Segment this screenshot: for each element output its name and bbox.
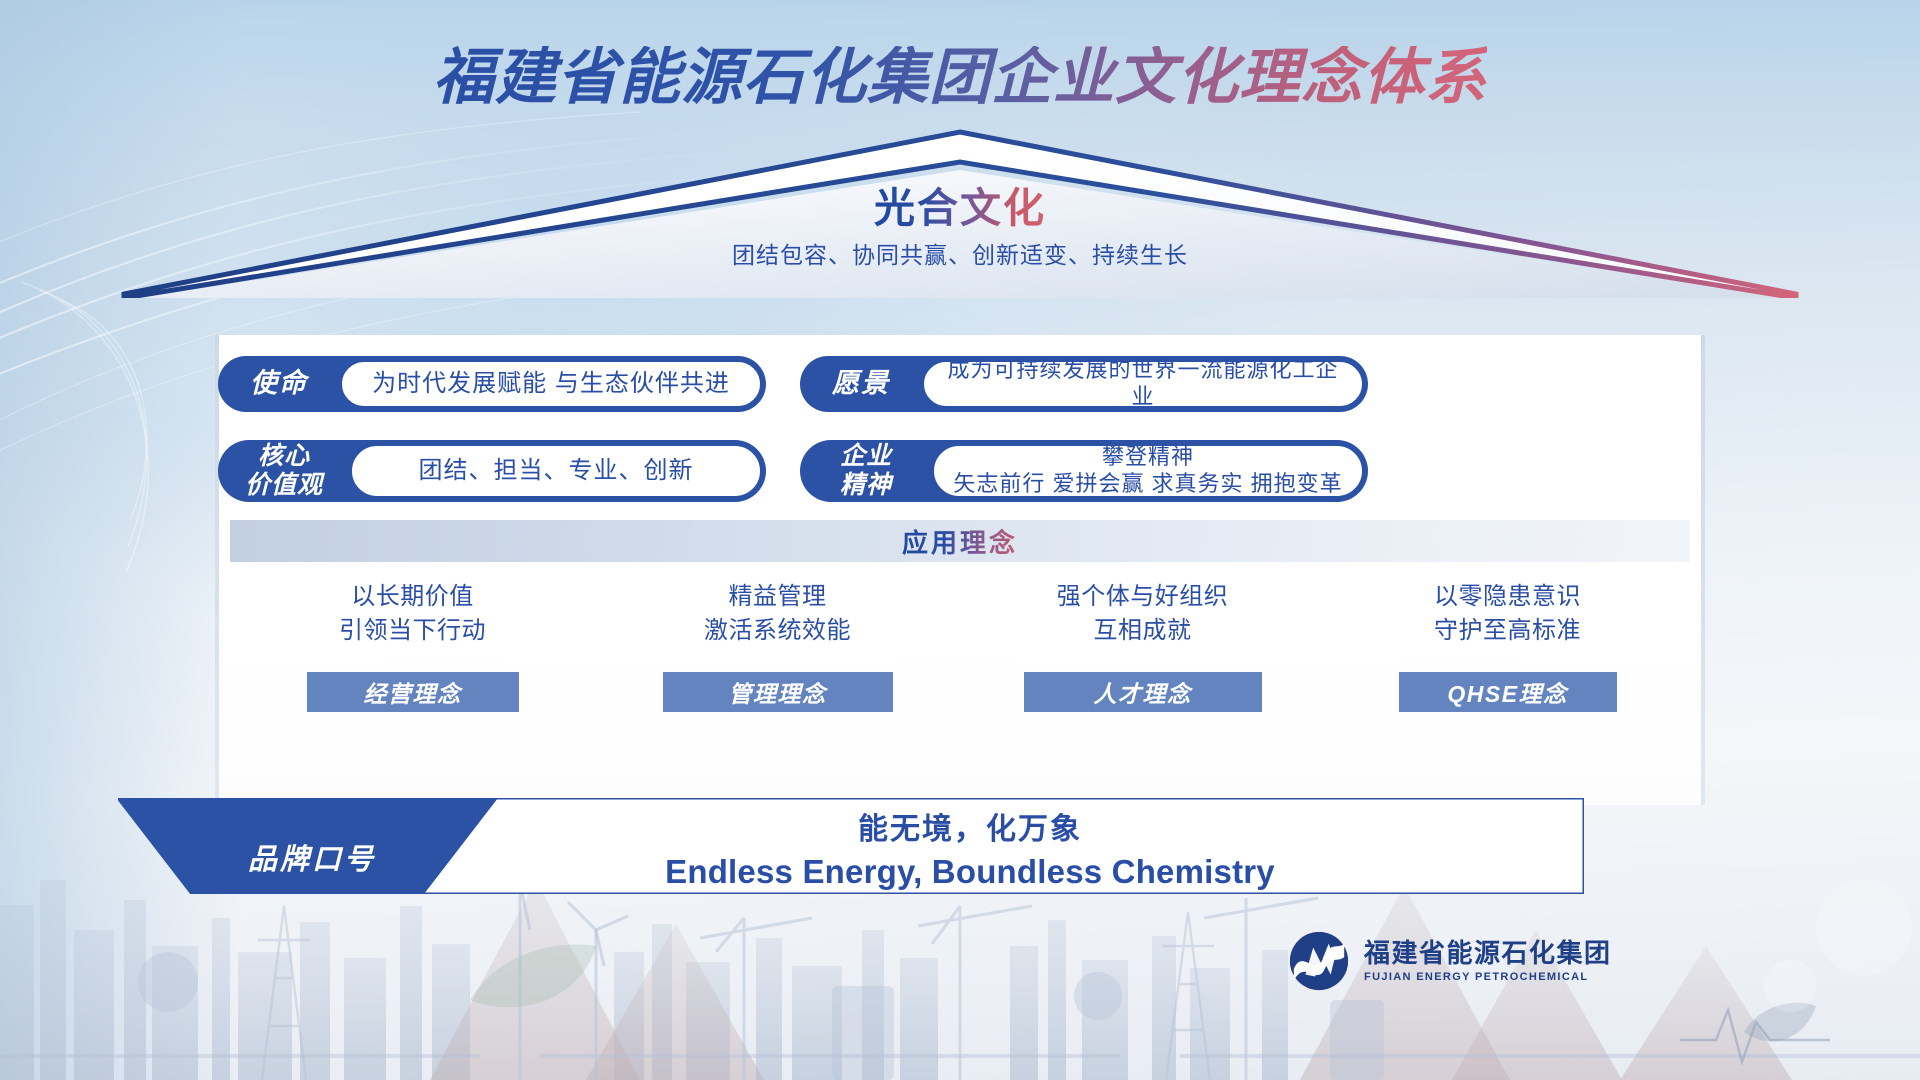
concept-column-management[interactable]: 精益管理 激活系统效能 管理理念 — [595, 580, 960, 760]
application-concept-band: 应用理念 — [230, 520, 1690, 562]
concept-talent-line2: 互相成就 — [1057, 614, 1229, 648]
concept-talent-text: 强个体与好组织 互相成就 — [1057, 580, 1229, 656]
concept-column-qhse[interactable]: 以零隐患意识 守护至高标准 QHSE理念 — [1325, 580, 1690, 760]
logo-mark-icon — [1288, 930, 1350, 992]
pillar-enterprise-spirit-label-line2: 精神 — [826, 471, 906, 501]
pillar-enterprise-spirit[interactable]: 企业 精神 攀登精神 矢志前行 爱拼会赢 求真务实 拥抱变革 — [800, 440, 1368, 502]
pillar-core-values-label-line1: 核心 — [244, 442, 324, 472]
brand-slogan-banner — [118, 798, 1584, 894]
pillar-mission[interactable]: 使命 为时代发展赋能 与生态伙伴共进 — [218, 356, 766, 412]
pillar-mission-label: 使命 — [218, 368, 340, 400]
concept-business-text: 以长期价值 引领当下行动 — [339, 580, 486, 656]
house-right-edge — [1701, 335, 1705, 805]
roof-shape — [120, 126, 1800, 298]
pillar-vision[interactable]: 愿景 成为可持续发展的世界一流能源化工企业 — [800, 356, 1368, 412]
concept-business-badge[interactable]: 经营理念 — [307, 672, 519, 712]
pillar-core-values[interactable]: 核心 价值观 团结、担当、专业、创新 — [218, 440, 766, 502]
pillar-core-values-label-line2: 价值观 — [244, 471, 324, 501]
pillar-core-values-value: 团结、担当、专业、创新 — [350, 444, 762, 498]
pillar-enterprise-spirit-line1: 攀登精神 — [953, 444, 1342, 471]
concept-column-talent[interactable]: 强个体与好组织 互相成就 人才理念 — [960, 580, 1325, 760]
concept-qhse-badge[interactable]: QHSE理念 — [1399, 672, 1617, 712]
pillar-enterprise-spirit-line2: 矢志前行 爱拼会赢 求真务实 拥抱变革 — [953, 471, 1342, 498]
pillar-vision-value: 成为可持续发展的世界一流能源化工企业 — [922, 360, 1364, 408]
culture-system-poster: 福建省能源石化集团企业文化理念体系 光合文化 — [0, 0, 1920, 1080]
page-title: 福建省能源石化集团企业文化理念体系 — [433, 46, 1487, 109]
concept-talent-badge[interactable]: 人才理念 — [1024, 672, 1262, 712]
application-concept-columns: 以长期价值 引领当下行动 经营理念 精益管理 激活系统效能 管理理念 强个体与好… — [230, 580, 1690, 760]
concept-qhse-text: 以零隐患意识 守护至高标准 — [1434, 580, 1581, 656]
logo-company-name-cn: 福建省能源石化集团 — [1364, 939, 1612, 968]
pillar-core-values-label: 核心 价值观 — [218, 442, 350, 501]
concept-qhse-line2: 守护至高标准 — [1434, 614, 1581, 648]
concept-management-line1: 精益管理 — [704, 580, 851, 614]
pillar-enterprise-spirit-label: 企业 精神 — [800, 442, 932, 501]
concept-management-badge[interactable]: 管理理念 — [663, 672, 893, 712]
application-concept-label: 应用理念 — [902, 523, 1018, 560]
pillar-enterprise-spirit-value: 攀登精神 矢志前行 爱拼会赢 求真务实 拥抱变革 — [932, 444, 1364, 498]
concept-qhse-line1: 以零隐患意识 — [1434, 580, 1581, 614]
concept-business-line2: 引领当下行动 — [339, 614, 486, 648]
pillar-enterprise-spirit-label-line1: 企业 — [826, 442, 906, 472]
company-logo: 福建省能源石化集团 FUJIAN ENERGY PETROCHEMICAL — [1288, 930, 1612, 992]
concept-column-business[interactable]: 以长期价值 引领当下行动 经营理念 — [230, 580, 595, 760]
concept-business-line1: 以长期价值 — [339, 580, 486, 614]
concept-management-line2: 激活系统效能 — [704, 614, 851, 648]
concept-management-text: 精益管理 激活系统效能 — [704, 580, 851, 656]
pillar-vision-label: 愿景 — [800, 368, 922, 400]
logo-company-name-en: FUJIAN ENERGY PETROCHEMICAL — [1364, 971, 1612, 983]
pillar-mission-value: 为时代发展赋能 与生态伙伴共进 — [340, 360, 762, 408]
title-container: 福建省能源石化集团企业文化理念体系 — [0, 46, 1920, 109]
logo-text-block: 福建省能源石化集团 FUJIAN ENERGY PETROCHEMICAL — [1364, 939, 1612, 984]
concept-talent-line1: 强个体与好组织 — [1057, 580, 1229, 614]
